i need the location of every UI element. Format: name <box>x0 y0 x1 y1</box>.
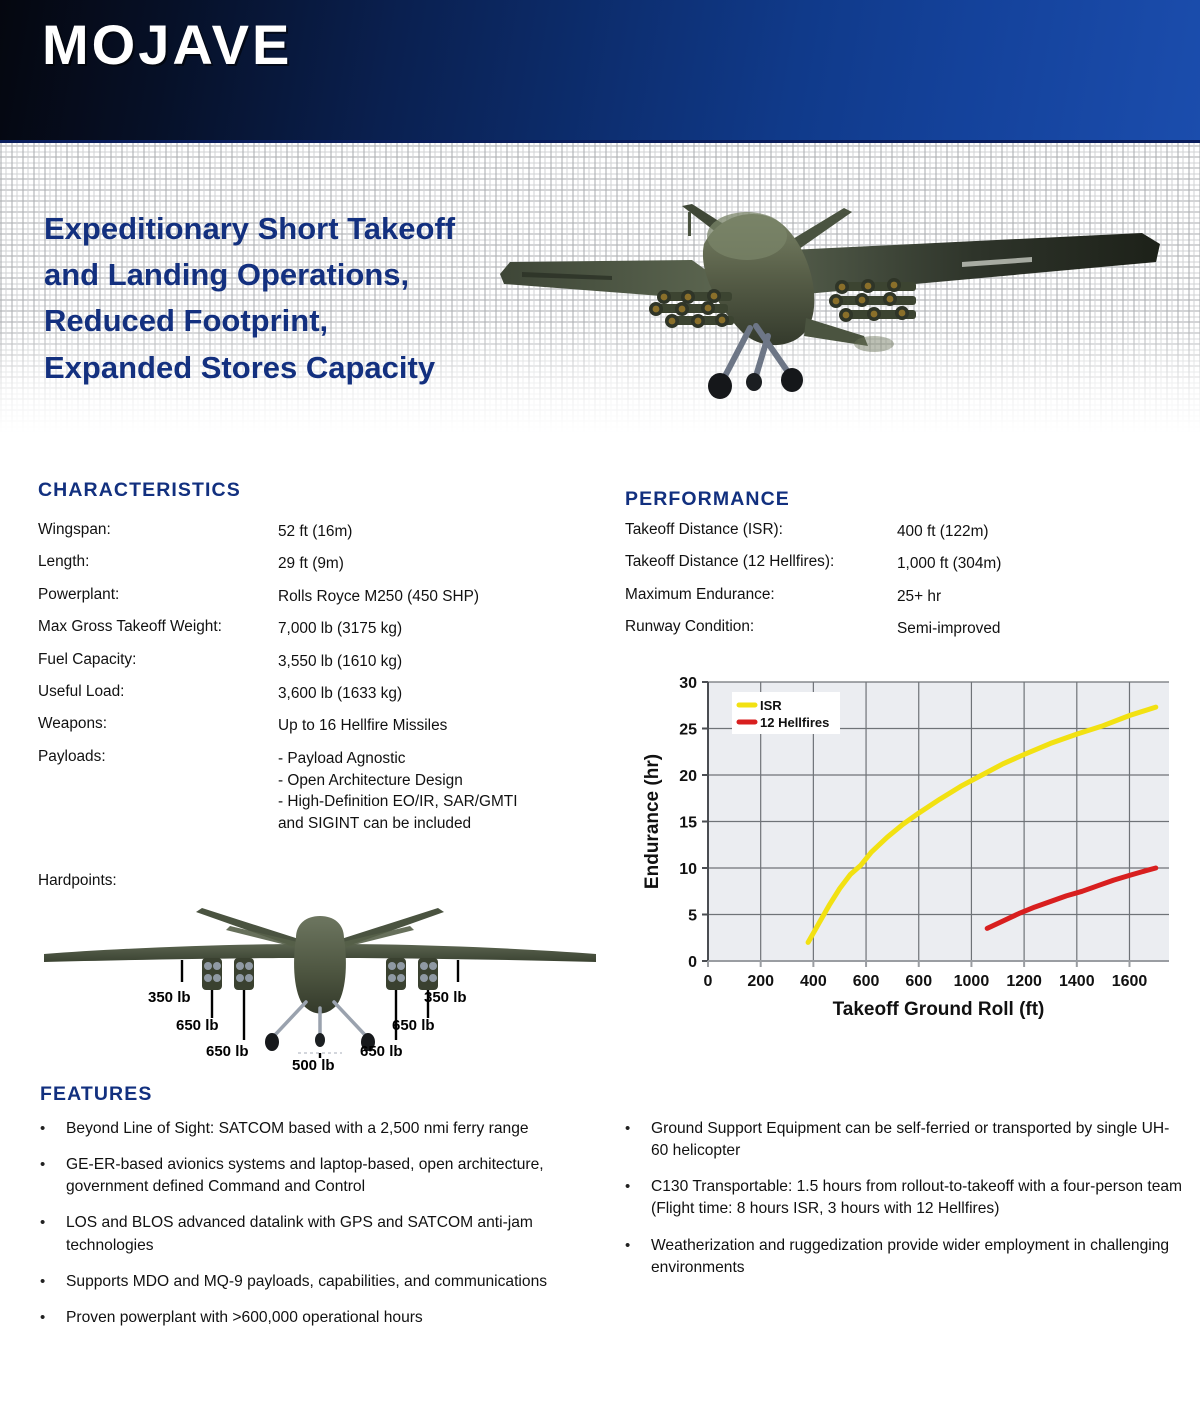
bullet-icon: • <box>625 1235 651 1279</box>
spec-label: Fuel Capacity: <box>38 651 278 669</box>
feature-list-item: •Proven powerplant with >600,000 operati… <box>40 1307 550 1329</box>
spec-value: 29 ft (9m) <box>278 553 598 575</box>
y-tick-label: 15 <box>679 815 697 832</box>
spec-value: 7,000 lb (3175 kg) <box>278 618 598 640</box>
feature-text: Beyond Line of Sight: SATCOM based with … <box>66 1118 550 1140</box>
spec-value: Semi-improved <box>897 618 1185 640</box>
hardpoint-callout-500lb-center: 500 lb <box>292 1057 335 1070</box>
x-tick-label: 1000 <box>954 973 990 990</box>
x-tick-label: 600 <box>853 973 880 990</box>
spec-label: Wingspan: <box>38 521 278 539</box>
bullet-icon: • <box>625 1176 651 1220</box>
spec-row: Runway Condition:Semi-improved <box>625 618 1185 640</box>
spec-value: 1,000 ft (304m) <box>897 553 1185 575</box>
performance-table: Takeoff Distance (ISR):400 ft (122m)Take… <box>625 521 1185 651</box>
feature-list-item: •C130 Transportable: 1.5 hours from roll… <box>625 1176 1185 1220</box>
feature-list-item: •Ground Support Equipment can be self-fe… <box>625 1118 1185 1162</box>
spec-row: Takeoff Distance (ISR):400 ft (122m) <box>625 521 1185 543</box>
bullet-icon: • <box>625 1118 651 1162</box>
chart-canvas: 0510152025300200400600600100012001400160… <box>640 668 1185 1023</box>
spec-value: 400 ft (122m) <box>897 521 1185 543</box>
y-tick-label: 25 <box>679 722 697 739</box>
y-tick-label: 5 <box>688 908 697 925</box>
x-tick-label: 200 <box>747 973 774 990</box>
spec-label: Takeoff Distance (12 Hellfires): <box>625 553 897 571</box>
endurance-vs-ground-roll-chart: 0510152025300200400600600100012001400160… <box>640 668 1185 1023</box>
features-list-left: •Beyond Line of Sight: SATCOM based with… <box>40 1118 550 1343</box>
spec-value: Rolls Royce M250 (450 SHP) <box>278 586 598 608</box>
spec-label: Max Gross Takeoff Weight: <box>38 618 278 636</box>
hardpoint-callout-650lb-right-inner: 650 lb <box>392 1017 435 1034</box>
spec-label: Runway Condition: <box>625 618 897 636</box>
feature-list-item: •Beyond Line of Sight: SATCOM based with… <box>40 1118 550 1140</box>
spec-label: Takeoff Distance (ISR): <box>625 521 897 539</box>
spec-row: Max Gross Takeoff Weight:7,000 lb (3175 … <box>38 618 598 640</box>
bullet-icon: • <box>40 1307 66 1329</box>
spec-row: Powerplant:Rolls Royce M250 (450 SHP) <box>38 586 598 608</box>
features-list-right: •Ground Support Equipment can be self-fe… <box>625 1118 1185 1293</box>
spec-value: 3,550 lb (1610 kg) <box>278 651 598 673</box>
header-banner: MOJAVE <box>0 0 1200 143</box>
hardpoint-callout-650lb-left-inner: 650 lb <box>176 1017 219 1034</box>
y-axis-title: Endurance (hr) <box>642 754 663 889</box>
hardpoints-diagram: 350 lb 650 lb 650 lb 500 lb 650 lb 650 l… <box>30 890 610 1070</box>
feature-list-item: •Weatherization and ruggedization provid… <box>625 1235 1185 1279</box>
spec-value: 52 ft (16m) <box>278 521 598 543</box>
features-heading: FEATURES <box>40 1083 152 1106</box>
spec-label: Payloads: <box>38 748 278 766</box>
spec-row: Maximum Endurance:25+ hr <box>625 586 1185 608</box>
hardpoint-callout-650lb-right-outer: 650 lb <box>360 1043 403 1060</box>
y-tick-label: 10 <box>679 861 697 878</box>
spec-value: - Payload Agnostic - Open Architecture D… <box>278 748 598 836</box>
aircraft-3d-render-icon <box>492 200 1192 410</box>
product-title: MOJAVE <box>42 14 292 76</box>
spec-value: 25+ hr <box>897 586 1185 608</box>
spec-row: Length:29 ft (9m) <box>38 553 598 575</box>
spec-row: Fuel Capacity:3,550 lb (1610 kg) <box>38 651 598 673</box>
legend-label-1: ISR <box>760 698 782 713</box>
spec-label: Powerplant: <box>38 586 278 604</box>
x-axis-title: Takeoff Ground Roll (ft) <box>833 999 1045 1020</box>
spec-row: Takeoff Distance (12 Hellfires):1,000 ft… <box>625 553 1185 575</box>
spec-label: Length: <box>38 553 278 571</box>
feature-text: LOS and BLOS advanced datalink with GPS … <box>66 1212 550 1256</box>
x-tick-label: 600 <box>905 973 932 990</box>
spec-row: Weapons:Up to 16 Hellfire Missiles <box>38 715 598 737</box>
bullet-icon: • <box>40 1212 66 1256</box>
page-headline: Expeditionary Short Takeoff and Landing … <box>44 206 474 391</box>
feature-text: Ground Support Equipment can be self-fer… <box>651 1118 1185 1162</box>
hardpoint-callout-350lb-left: 350 lb <box>148 989 191 1006</box>
characteristics-table: Wingspan:52 ft (16m)Length:29 ft (9m)Pow… <box>38 521 598 846</box>
aircraft-front-view-icon: 350 lb 650 lb 650 lb 500 lb 650 lb 650 l… <box>30 890 610 1070</box>
spec-row: Payloads:- Payload Agnostic - Open Archi… <box>38 748 598 836</box>
legend-label-2: 12 Hellfires <box>760 715 829 730</box>
feature-list-item: •LOS and BLOS advanced datalink with GPS… <box>40 1212 550 1256</box>
datasheet-page: MOJAVE Expeditionary Short Takeoff and L… <box>0 0 1200 1404</box>
hardpoint-callout-650lb-left-outer: 650 lb <box>206 1043 249 1060</box>
feature-text: Proven powerplant with >600,000 operatio… <box>66 1307 550 1329</box>
bullet-icon: • <box>40 1118 66 1140</box>
spec-label: Weapons: <box>38 715 278 733</box>
feature-list-item: •GE-ER-based avionics systems and laptop… <box>40 1154 550 1198</box>
y-tick-label: 0 <box>688 954 697 971</box>
spec-label: Useful Load: <box>38 683 278 701</box>
hardpoint-callout-350lb-right: 350 lb <box>424 989 467 1006</box>
x-tick-label: 0 <box>704 973 713 990</box>
x-tick-label: 400 <box>800 973 827 990</box>
x-tick-label: 1600 <box>1112 973 1148 990</box>
feature-text: GE-ER-based avionics systems and laptop-… <box>66 1154 550 1198</box>
x-tick-label: 1200 <box>1006 973 1042 990</box>
feature-text: Supports MDO and MQ-9 payloads, capabili… <box>66 1271 550 1293</box>
spec-value: Up to 16 Hellfire Missiles <box>278 715 598 737</box>
feature-list-item: •Supports MDO and MQ-9 payloads, capabil… <box>40 1271 550 1293</box>
performance-heading: PERFORMANCE <box>625 488 790 511</box>
x-tick-label: 1400 <box>1059 973 1095 990</box>
hardpoints-label: Hardpoints: <box>38 872 117 890</box>
y-tick-label: 20 <box>679 768 697 785</box>
bullet-icon: • <box>40 1154 66 1198</box>
spec-row: Useful Load:3,600 lb (1633 kg) <box>38 683 598 705</box>
bullet-icon: • <box>40 1271 66 1293</box>
spec-row: Wingspan:52 ft (16m) <box>38 521 598 543</box>
feature-text: Weatherization and ruggedization provide… <box>651 1235 1185 1279</box>
feature-text: C130 Transportable: 1.5 hours from rollo… <box>651 1176 1185 1220</box>
characteristics-heading: CHARACTERISTICS <box>38 479 241 502</box>
spec-value: 3,600 lb (1633 kg) <box>278 683 598 705</box>
y-tick-label: 30 <box>679 675 697 692</box>
spec-label: Maximum Endurance: <box>625 586 897 604</box>
aircraft-hero-image <box>492 200 1192 410</box>
